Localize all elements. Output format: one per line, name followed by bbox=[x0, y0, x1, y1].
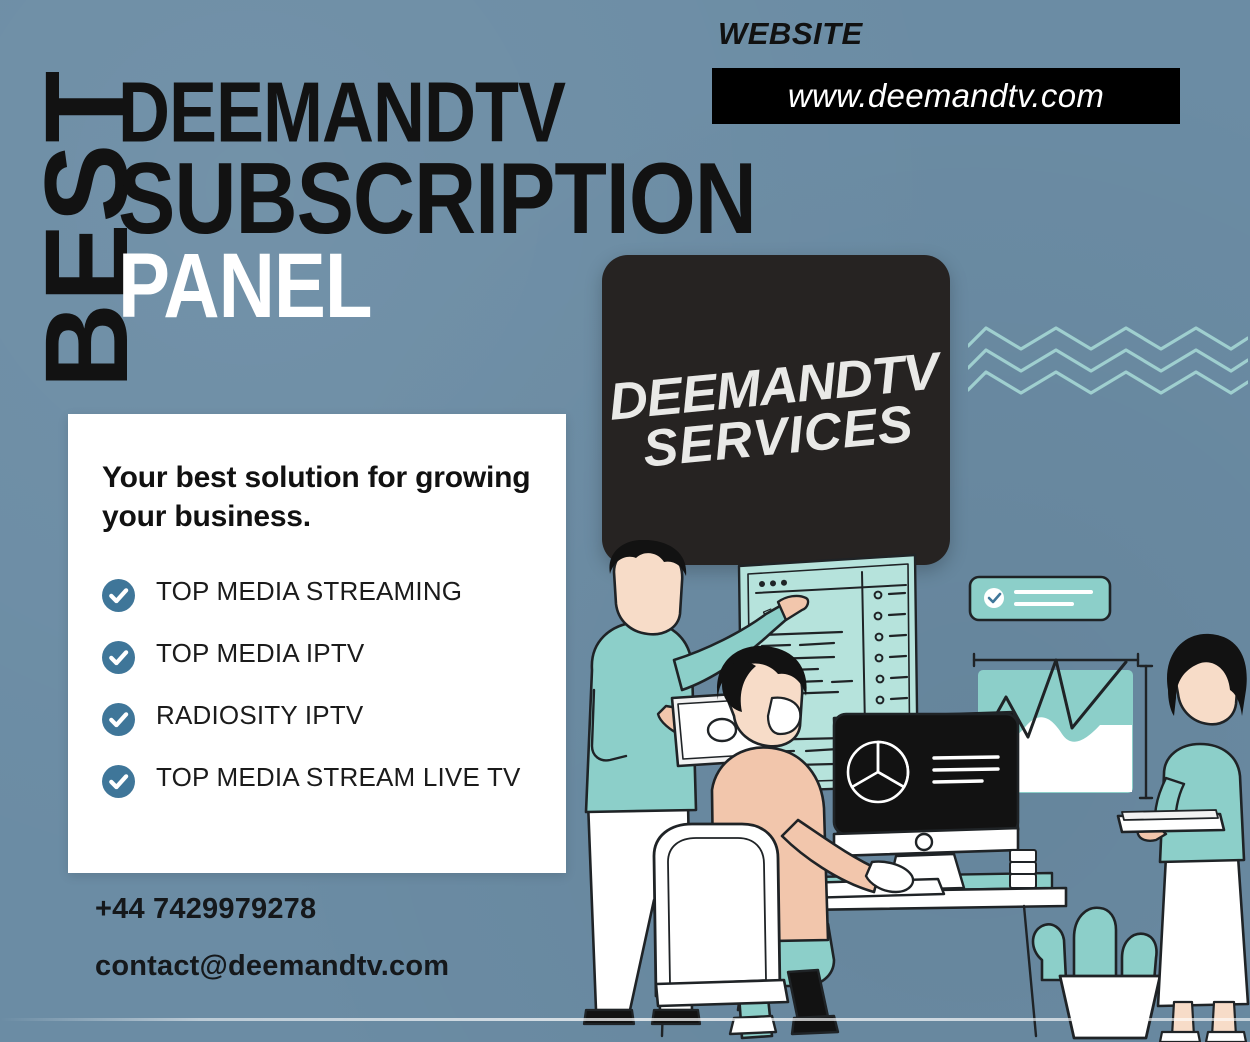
feature-tagline: Your best solution for growing your busi… bbox=[102, 458, 532, 536]
notification-card-graphic bbox=[970, 577, 1110, 620]
contact-email[interactable]: contact@deemandtv.com bbox=[95, 950, 449, 983]
feature-bullet-label: TOP MEDIA STREAMING bbox=[156, 576, 462, 608]
list-item[interactable]: RADIOSITY IPTV bbox=[102, 700, 532, 736]
check-circle-icon bbox=[102, 641, 135, 674]
website-url-text: www.deemandtv.com bbox=[788, 77, 1104, 115]
website-label: WEBSITE bbox=[718, 16, 863, 52]
poster-canvas: BEST DEEMANDTV SUBSCRIPTION PANEL WEBSIT… bbox=[0, 0, 1250, 1042]
website-url-bar[interactable]: www.deemandtv.com bbox=[712, 68, 1180, 124]
floor-line-decoration bbox=[0, 1018, 1250, 1021]
feature-bullet-label: TOP MEDIA IPTV bbox=[156, 638, 364, 670]
office-team-illustration: <—> <—/> bbox=[566, 540, 1250, 1042]
check-circle-icon bbox=[102, 765, 135, 798]
feature-card: Your best solution for growing your busi… bbox=[68, 414, 566, 873]
cup-stack-graphic bbox=[1010, 850, 1036, 888]
contact-phone[interactable]: +44 7429979278 bbox=[95, 893, 316, 926]
feature-bullet-label: TOP MEDIA STREAM LIVE TV bbox=[156, 762, 521, 794]
zigzag-decoration-icon bbox=[968, 316, 1248, 436]
check-circle-icon bbox=[102, 703, 135, 736]
headline-line-1: DEEMANDTV bbox=[118, 74, 756, 152]
check-circle-icon bbox=[102, 579, 135, 612]
brand-logo-text: DEEMANDTV SERVICES bbox=[602, 347, 950, 480]
list-item[interactable]: TOP MEDIA STREAM LIVE TV bbox=[102, 762, 532, 798]
brand-logo-card: DEEMANDTV SERVICES bbox=[602, 255, 950, 565]
list-item[interactable]: TOP MEDIA IPTV bbox=[102, 638, 532, 674]
feature-bullet-label: RADIOSITY IPTV bbox=[156, 700, 363, 732]
list-item[interactable]: TOP MEDIA STREAMING bbox=[102, 576, 532, 612]
